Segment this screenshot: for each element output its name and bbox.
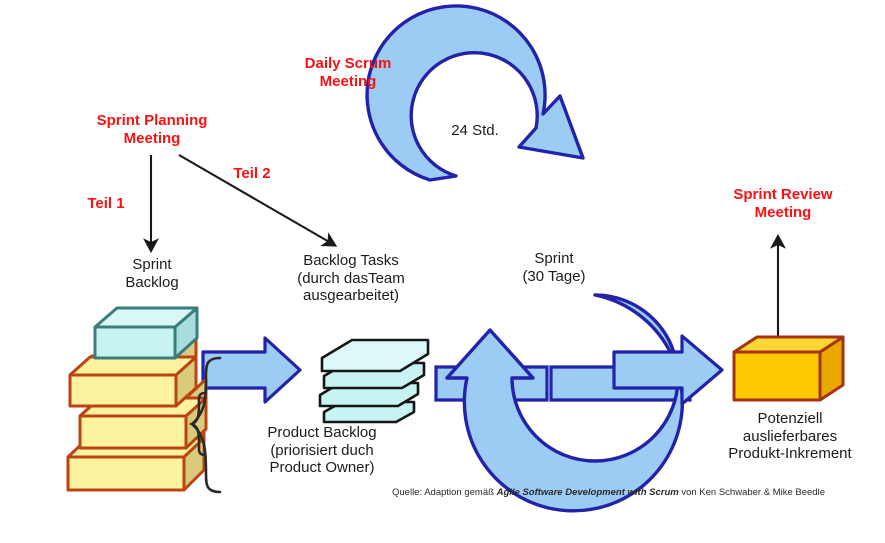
label-product-backlog: Product Backlog (priorisiert duch Produc…: [232, 424, 412, 477]
label-backlog-tasks: Backlog Tasks (durch dasTeam ausgearbeit…: [262, 252, 440, 305]
label-sprint-planning-meeting: Sprint Planning Meeting: [72, 112, 232, 147]
daily-scrum-loop-icon: [367, 6, 583, 180]
label-teil-1: Teil 1: [76, 195, 136, 213]
label-24-std: 24 Std.: [420, 122, 530, 140]
label-teil-2: Teil 2: [222, 165, 282, 183]
product-increment-box: [734, 337, 843, 400]
product-backlog-cube-stack: [68, 308, 206, 490]
backlog-tasks-paper-stack: [320, 340, 428, 422]
source-suffix: von Ken Schwaber & Mike Beedle: [679, 487, 825, 498]
label-sprint-backlog: Sprint Backlog: [96, 256, 208, 291]
source-italic-title: Agile Software Development with Scrum: [497, 487, 679, 498]
sprint-loop-icon: [447, 295, 682, 511]
arrow-backlog-to-tasks: [203, 338, 300, 402]
label-daily-scrum-meeting: Daily Scrum Meeting: [278, 55, 418, 90]
thin-connector-arrows: [151, 155, 778, 340]
label-sprint-duration: Sprint (30 Tage): [494, 250, 614, 285]
scrum-process-diagram: Sprint Planning Meeting Teil 1 Teil 2 Da…: [0, 0, 885, 543]
label-product-increment: Potenziell auslieferbares Produkt-Inkrem…: [690, 410, 885, 463]
source-prefix: Quelle: Adaption gemäß: [392, 487, 497, 498]
source-citation: Quelle: Adaption gemäß Agile Software De…: [392, 487, 825, 498]
sprint-backlog-cube: [95, 308, 197, 358]
label-sprint-review-meeting: Sprint Review Meeting: [708, 186, 858, 221]
